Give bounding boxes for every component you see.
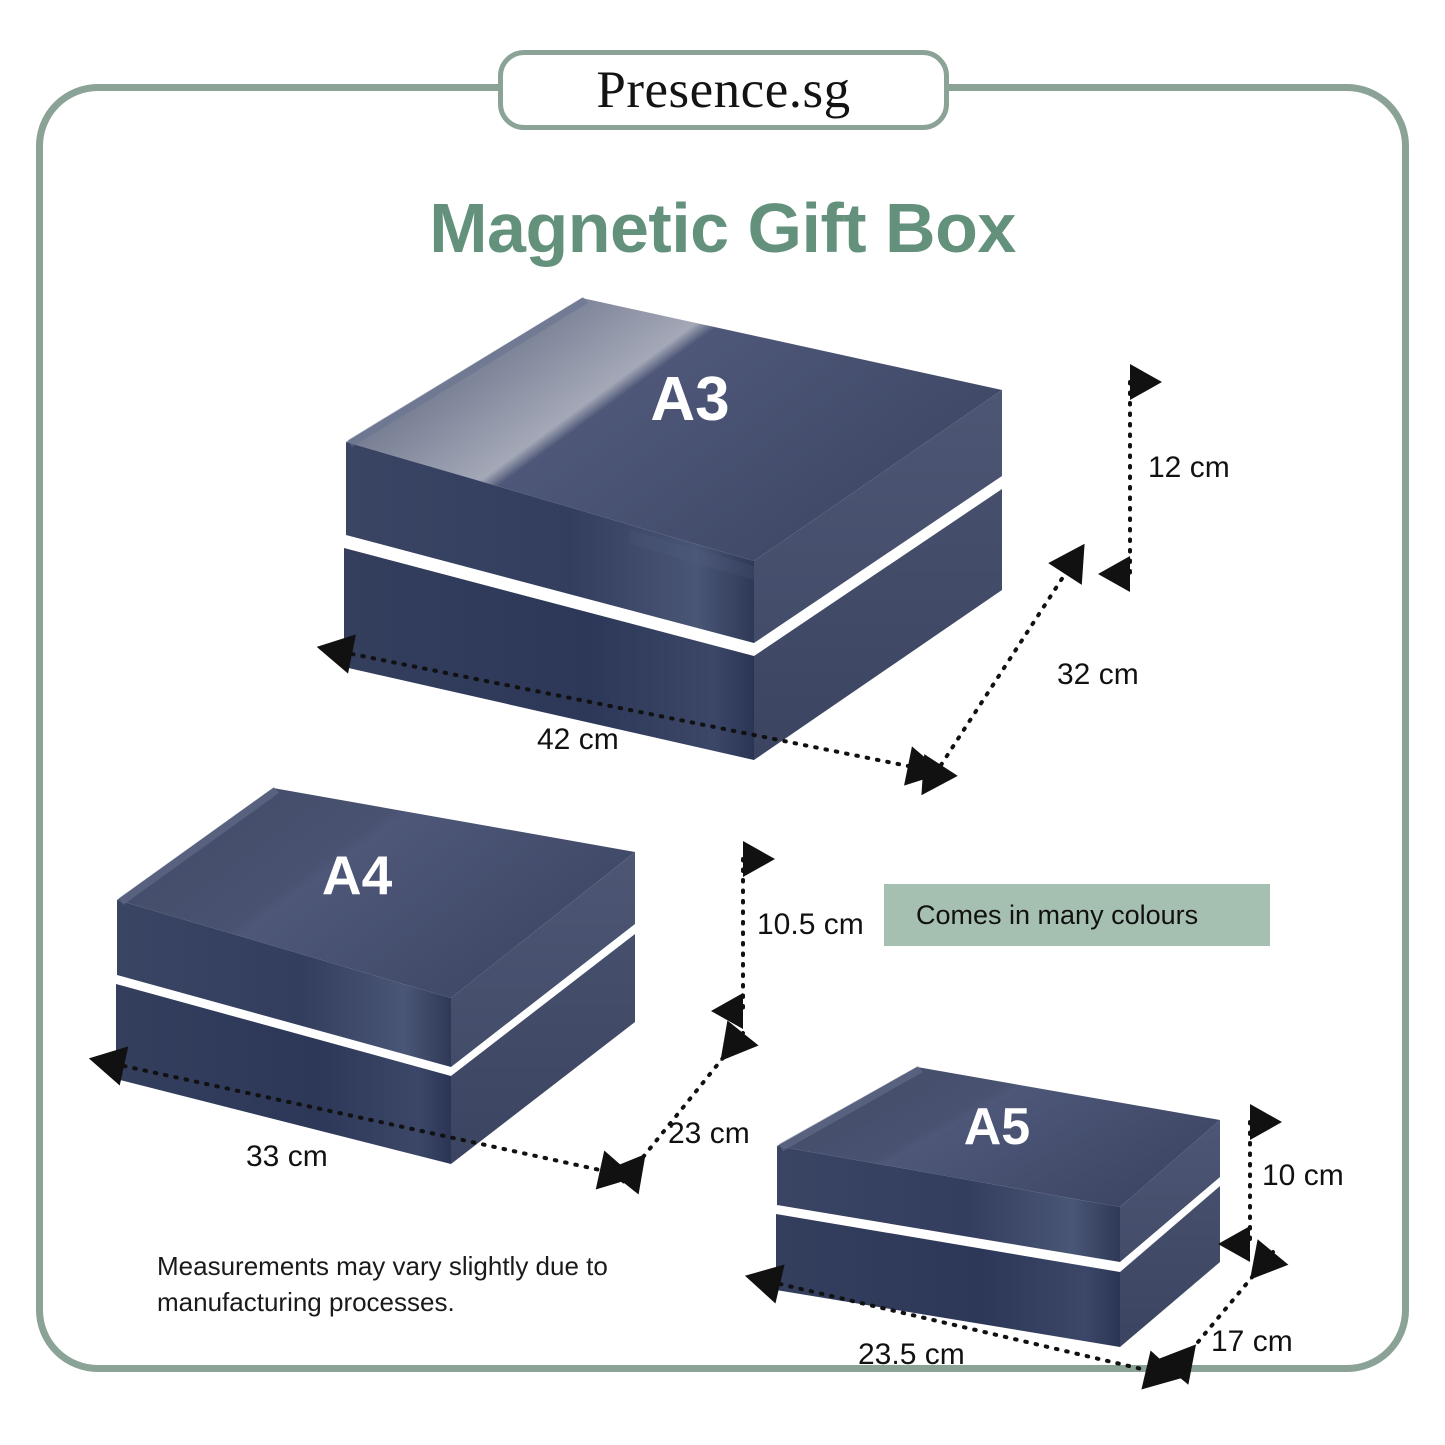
dimension-arrow-a4-depth <box>605 1020 765 1200</box>
dimension-label-a5-width: 23.5 cm <box>858 1338 965 1372</box>
disclaimer-line-2: manufacturing processes. <box>157 1285 717 1321</box>
brand-logo-text: Presence.sg <box>596 64 850 117</box>
dimension-arrow-a3-width <box>340 640 920 780</box>
dimension-arrow-a4-width <box>112 1053 612 1183</box>
brand-logo-badge: Presence.sg <box>498 50 949 130</box>
dimension-label-a5-height: 10 cm <box>1262 1159 1344 1193</box>
dimension-label-a4-width: 33 cm <box>246 1140 328 1174</box>
infographic-canvas: Presence.sg Magnetic Gift Box <box>0 0 1445 1445</box>
dimension-label-a4-height: 10.5 cm <box>757 908 864 942</box>
measurement-disclaimer: Measurements may vary slightly due to ma… <box>157 1249 717 1321</box>
dimension-label-a3-depth: 32 cm <box>1057 658 1139 692</box>
disclaimer-line-1: Measurements may vary slightly due to <box>157 1249 717 1285</box>
dimension-label-a3-width: 42 cm <box>537 723 619 757</box>
box-label-a3: A3 <box>650 365 729 434</box>
page-title: Magnetic Gift Box <box>0 188 1445 268</box>
dimension-label-a3-height: 12 cm <box>1148 451 1230 485</box>
box-label-a5: A5 <box>964 1098 1030 1156</box>
colour-availability-text: Comes in many colours <box>916 900 1198 931</box>
dimension-label-a4-depth: 23 cm <box>668 1117 750 1151</box>
dimension-arrow-a3-height <box>1110 368 1150 588</box>
colour-availability-badge: Comes in many colours <box>884 884 1270 946</box>
box-label-a4: A4 <box>322 844 393 906</box>
dimension-label-a5-depth: 17 cm <box>1211 1325 1293 1359</box>
dimension-arrow-a5-depth <box>1155 1240 1295 1390</box>
